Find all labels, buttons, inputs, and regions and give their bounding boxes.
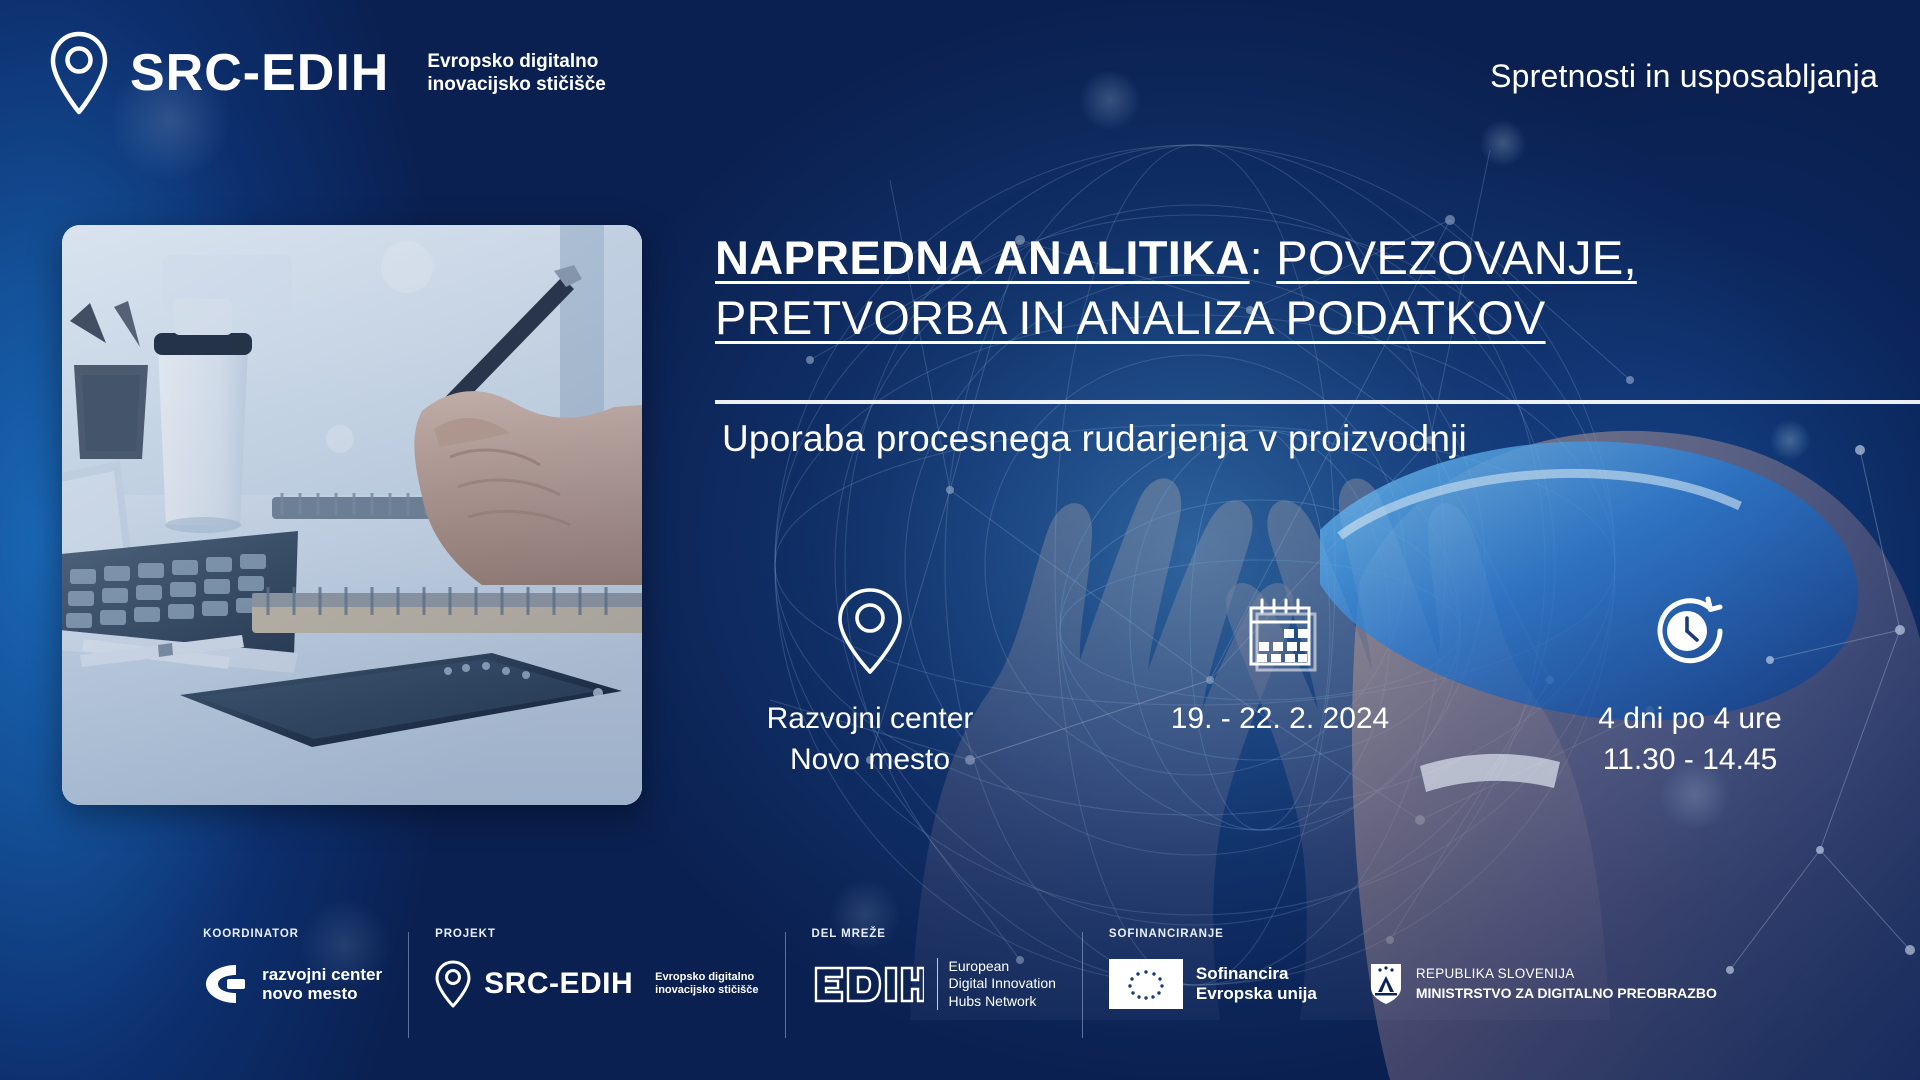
footer-caption-del-mreze: DEL MREŽE [812, 928, 1056, 942]
event-title-separator: : [1250, 231, 1277, 284]
footer-text-koordinator: razvojni center novo mesto [262, 965, 382, 1003]
title-divider [715, 400, 1920, 404]
footer-ministry-line1: REPUBLIKA SLOVENIJA [1416, 965, 1717, 983]
footer-eu-line2: Evropska unija [1196, 984, 1317, 1004]
event-details-row: Razvojni center Novo mesto [700, 585, 1860, 780]
network-globe-graphic [690, 60, 1700, 1070]
edih-logo-icon [812, 962, 924, 1006]
footer-group-del-mreze: DEL MREŽE European Digital Innovation Hu… [786, 928, 1082, 1013]
footer-group-koordinator: KOORDINATOR razvojni center novo mesto [177, 928, 408, 1013]
footer-caption-projekt: PROJEKT [435, 928, 758, 942]
category-label: Spretnosti in usposabljanja [1490, 58, 1878, 95]
bokeh-dot [1080, 70, 1140, 130]
event-poster: SRC-EDIH Evropsko digitalno inovacijsko … [0, 0, 1920, 1080]
footer-koordinator-line1: razvojni center [262, 965, 382, 984]
detail-duration-line1: 4 dni po 4 ure [1598, 699, 1781, 740]
event-title: NAPREDNA ANALITIKA: POVEZOVANJE, PRETVOR… [715, 228, 1915, 348]
location-pin-icon [835, 585, 905, 677]
footer-group-sofinanciranje: SOFINANCIRANJE Sofinancira Evropska unij… [1083, 928, 1343, 1013]
bokeh-dot [1480, 120, 1526, 166]
slovenia-coat-of-arms-icon [1369, 962, 1403, 1006]
footer-group-projekt: PROJEKT SRC-EDIH Evropsko digitalno inov… [409, 928, 784, 1013]
footer-projekt-wordmark: SRC-EDIH [484, 969, 633, 999]
footer-ministry-line2: MINISTRSTVO ZA DIGITALNO PREOBRAZBO [1416, 984, 1717, 1003]
footer-caption-sofinanciranje: SOFINANCIRANJE [1109, 928, 1317, 942]
detail-location-line1: Razvojni center [767, 699, 974, 740]
detail-location: Razvojni center Novo mesto [700, 585, 1040, 780]
bokeh-dot [1770, 420, 1810, 460]
footer-logo-bar: KOORDINATOR razvojni center novo mesto P… [0, 928, 1920, 1038]
location-pin-icon [435, 960, 471, 1008]
title-block: NAPREDNA ANALITIKA: POVEZOVANJE, PRETVOR… [715, 228, 1915, 348]
brand-wordmark: SRC-EDIH [130, 47, 389, 99]
calendar-icon [1237, 585, 1323, 677]
brand-logo: SRC-EDIH Evropsko digitalno inovacijsko … [48, 30, 606, 116]
event-photo [62, 225, 642, 805]
footer-koordinator-line2: novo mesto [262, 984, 382, 1003]
rc-novo-mesto-icon [203, 962, 249, 1006]
eu-flag-icon [1109, 959, 1183, 1009]
footer-caption-ministrstvo [1369, 928, 1717, 942]
footer-hubs-line2: Digital Innovation [949, 975, 1056, 993]
footer-eu-text: Sofinancira Evropska unija [1196, 964, 1317, 1005]
detail-date-line1: 19. - 22. 2. 2024 [1171, 699, 1390, 740]
detail-duration: 4 dni po 4 ure 11.30 - 14.45 [1520, 585, 1860, 780]
footer-projekt-tagline-line1: Evropsko digitalno [655, 971, 758, 984]
desk-scene-illustration [62, 225, 642, 805]
footer-eu-line1: Sofinancira [1196, 964, 1317, 984]
detail-duration-line2: 11.30 - 14.45 [1603, 740, 1778, 781]
footer-hubs-line1: European [949, 958, 1056, 976]
footer-ministry-text: REPUBLIKA SLOVENIJA MINISTRSTVO ZA DIGIT… [1416, 965, 1717, 1002]
location-pin-icon [48, 30, 110, 116]
brand-tagline-line1: Evropsko digitalno [427, 50, 606, 73]
brand-tagline: Evropsko digitalno inovacijsko stičišče [409, 50, 606, 96]
footer-hubs-line3: Hubs Network [949, 993, 1056, 1011]
brand-tagline-line2: inovacijsko stičišče [427, 73, 606, 96]
clock-restore-icon [1646, 585, 1734, 677]
footer-projekt-tagline: Evropsko digitalno inovacijsko stičišče [646, 971, 758, 997]
event-subtitle: Uporaba procesnega rudarjenja v proizvod… [722, 418, 1467, 460]
footer-projekt-tagline-line2: inovacijsko stičišče [655, 984, 758, 997]
footer-group-ministrstvo: REPUBLIKA SLOVENIJA MINISTRSTVO ZA DIGIT… [1343, 928, 1743, 1013]
footer-caption-koordinator: KOORDINATOR [203, 928, 382, 942]
detail-date: 19. - 22. 2. 2024 [1110, 585, 1450, 780]
footer-hubs-text: European Digital Innovation Hubs Network [937, 958, 1056, 1011]
detail-location-line2: Novo mesto [790, 740, 950, 781]
event-title-bold: NAPREDNA ANALITIKA [715, 231, 1250, 284]
